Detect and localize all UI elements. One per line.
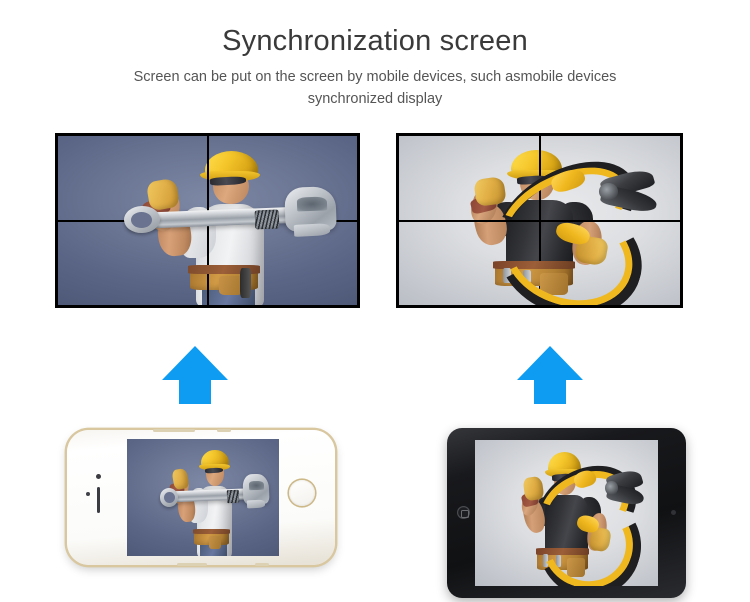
page-subtitle: Screen can be put on the screen by mobil… [95,67,655,111]
phone-antenna-band-top-a [153,429,195,432]
phone-antenna-band-top-b [217,429,231,432]
wrench-lower-jaw [294,223,330,237]
earpiece-speaker-icon [97,487,100,513]
wrench-upper-jaw [297,196,327,211]
right-video-wall [396,133,683,308]
arrow-up-icon [515,344,585,406]
wrench-lower-jaw [247,499,266,508]
wrench-worker-figure [127,439,279,556]
right-sync-arrow [515,344,585,406]
sync-screen-page: Synchronization screen Screen can be put… [0,0,750,602]
left-video-wall [55,133,360,308]
phone-screen[interactable] [127,439,279,556]
tool-belt-strap [193,529,229,535]
work-glove [145,178,179,211]
wrench-ring-inner [131,212,153,228]
wrench-ring-inner [164,492,175,503]
home-button-glyph [461,510,469,518]
phone-antenna-band-bottom-a [177,563,207,566]
tablet-screen[interactable] [475,440,658,586]
tablet[interactable] [447,428,686,598]
smartphone[interactable] [67,430,335,565]
tool-pouch [209,536,221,549]
page-title: Synchronization screen [0,0,750,58]
page-header: Synchronization screen Screen can be put… [0,0,750,110]
work-glove-left [473,176,506,207]
pliers-worker-figure [475,440,658,586]
wrench-upper-jaw [248,481,264,491]
phone-antenna-band-bottom-b [255,563,269,566]
pliers-pivot-bolt [605,481,618,496]
belt-tool [240,268,250,298]
wrench-worm-screw [255,210,280,229]
front-camera-icon [96,474,101,479]
proximity-sensor-icon [86,492,90,496]
home-button[interactable] [289,480,315,506]
wrench-worm-screw [227,490,240,503]
arrow-up-icon [160,344,230,406]
front-camera-icon [671,510,676,515]
home-button[interactable] [457,506,470,519]
left-sync-arrow [160,344,230,406]
